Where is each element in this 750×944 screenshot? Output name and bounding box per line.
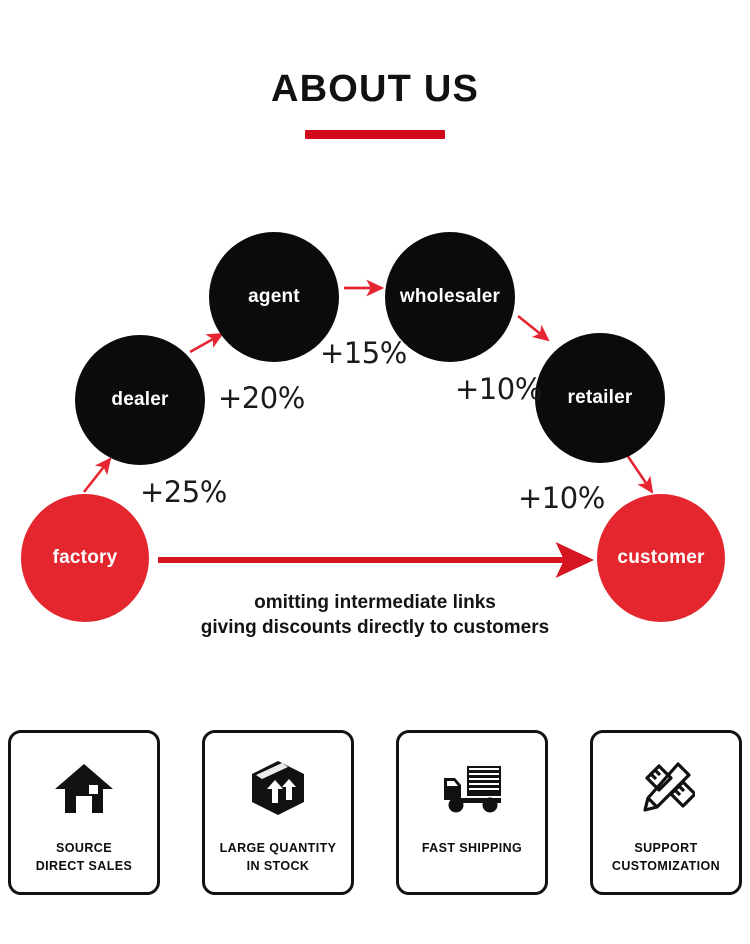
node-label: agent bbox=[248, 286, 300, 308]
feature-box-support-customization[interactable]: SUPPORT CUSTOMIZATION bbox=[590, 730, 742, 895]
supply-chain-diagram: factory dealer agent wholesaler retailer… bbox=[0, 0, 750, 700]
about-us-page: ABOUT US bbox=[0, 0, 750, 944]
feature-label-line-2: IN STOCK bbox=[220, 857, 337, 875]
feature-box-source-direct-sales[interactable]: SOURCE DIRECT SALES bbox=[8, 730, 160, 895]
feature-label-line-1: SUPPORT bbox=[612, 839, 720, 857]
pencil-ruler-icon bbox=[637, 757, 695, 819]
feature-label-line-2: DIRECT SALES bbox=[36, 857, 132, 875]
feature-boxes: SOURCE DIRECT SALES LARGE QUANTITY IN ST… bbox=[8, 730, 742, 895]
node-retailer[interactable]: retailer bbox=[535, 333, 665, 463]
caption-line-2: giving discounts directly to customers bbox=[0, 615, 750, 640]
markup-retailer-customer: +10% bbox=[518, 481, 605, 515]
markup-wholesaler-retailer: +10% bbox=[455, 372, 542, 406]
markup-factory-dealer: +25% bbox=[140, 475, 227, 509]
feature-label: SUPPORT CUSTOMIZATION bbox=[606, 839, 726, 875]
feature-label-line-1: FAST SHIPPING bbox=[422, 839, 522, 857]
arrow-dealer-to-agent bbox=[190, 334, 222, 352]
box-arrows-icon bbox=[248, 757, 308, 819]
arrow-retailer-to-customer bbox=[627, 455, 652, 492]
arrow-wholesaler-to-retailer bbox=[518, 316, 548, 340]
feature-label: SOURCE DIRECT SALES bbox=[30, 839, 138, 875]
feature-label-line-1: SOURCE bbox=[36, 839, 132, 857]
feature-label: FAST SHIPPING bbox=[416, 839, 528, 857]
node-label: retailer bbox=[568, 387, 633, 409]
truck-icon bbox=[439, 757, 505, 819]
feature-box-large-quantity-in-stock[interactable]: LARGE QUANTITY IN STOCK bbox=[202, 730, 354, 895]
caption-line-1: omitting intermediate links bbox=[0, 590, 750, 615]
feature-label: LARGE QUANTITY IN STOCK bbox=[214, 839, 343, 875]
markup-agent-wholesaler: +15% bbox=[320, 336, 407, 370]
node-label: factory bbox=[53, 547, 118, 569]
feature-label-line-1: LARGE QUANTITY bbox=[220, 839, 337, 857]
node-label: customer bbox=[617, 547, 704, 569]
diagram-caption: omitting intermediate links giving disco… bbox=[0, 590, 750, 640]
feature-label-line-2: CUSTOMIZATION bbox=[612, 857, 720, 875]
markup-dealer-agent: +20% bbox=[218, 381, 305, 415]
house-icon bbox=[53, 757, 115, 819]
node-dealer[interactable]: dealer bbox=[75, 335, 205, 465]
arrow-factory-to-dealer bbox=[84, 459, 110, 492]
feature-box-fast-shipping[interactable]: FAST SHIPPING bbox=[396, 730, 548, 895]
node-label: wholesaler bbox=[400, 286, 500, 308]
node-label: dealer bbox=[111, 389, 168, 411]
